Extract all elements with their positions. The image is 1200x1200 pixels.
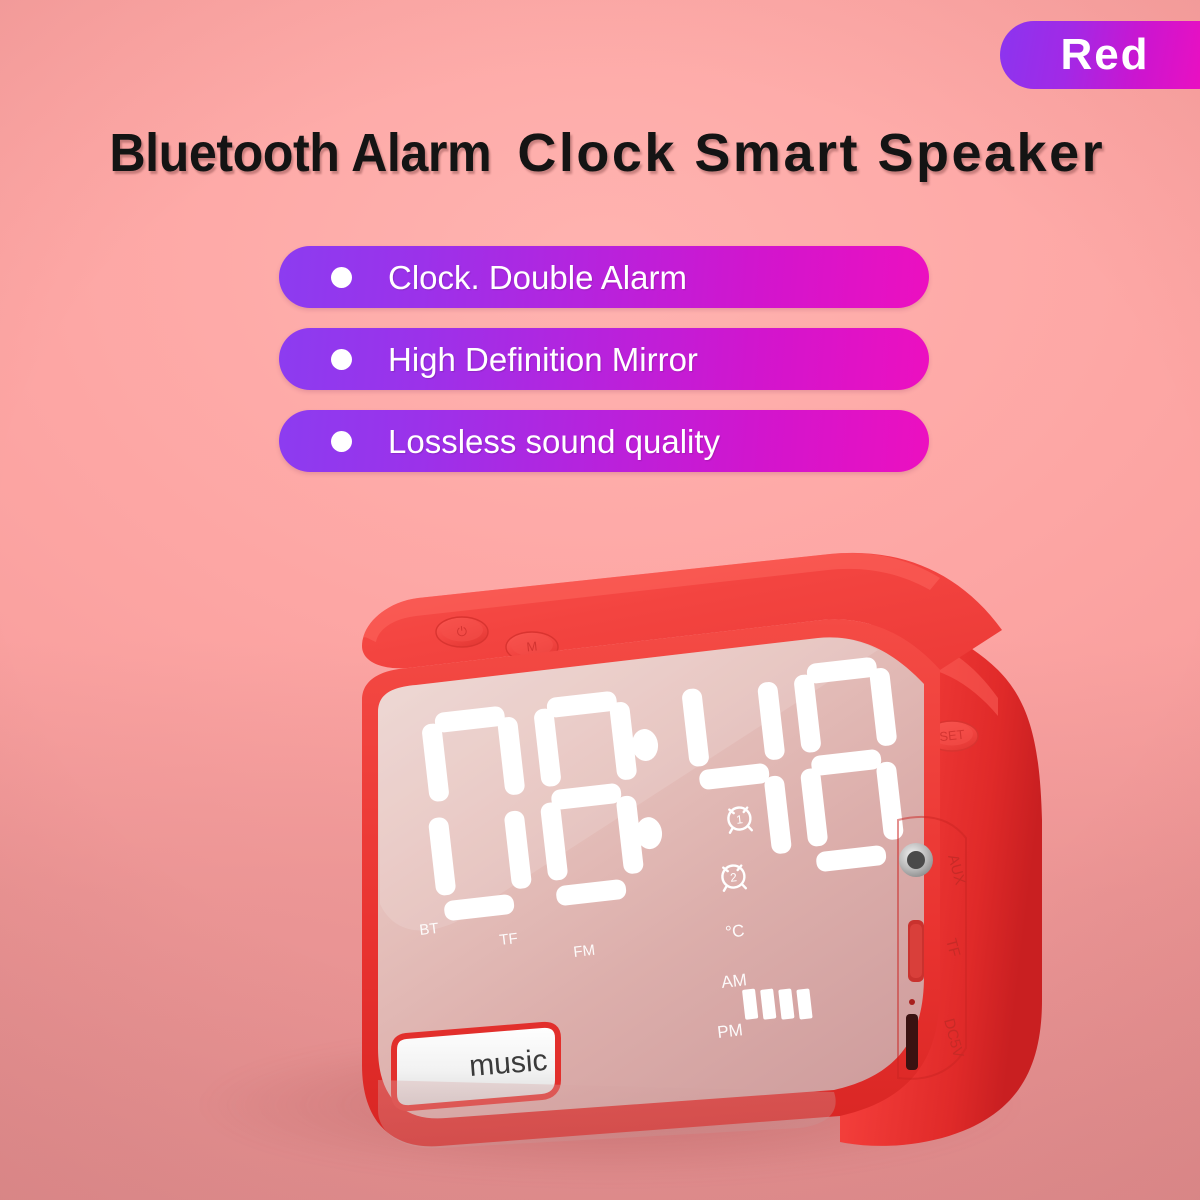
indicator-pm: PM (716, 1020, 743, 1042)
button-mode-glyph: M (526, 638, 538, 654)
indicator-am: AM (720, 970, 747, 992)
indicator-fm: FM (573, 942, 596, 961)
button-power-glyph: ⏻ (456, 624, 468, 640)
button-set-glyph: SET (939, 727, 966, 745)
indicator-bt: BT (419, 920, 440, 939)
music-tab-label: music (468, 1044, 549, 1083)
product-advertisement-page: Red Bluetooth AlarmClock Smart Speaker C… (0, 0, 1200, 1200)
bluetooth-alarm-clock-speaker: ⏻ M ◀◀ ▶▶ (140, 520, 1070, 1160)
indicator-tf: TF (499, 930, 519, 949)
product-image: ⏻ M ◀◀ ▶▶ (0, 0, 1200, 1200)
button-power[interactable]: ⏻ (436, 617, 488, 647)
indicator-celsius: °C (724, 921, 745, 942)
